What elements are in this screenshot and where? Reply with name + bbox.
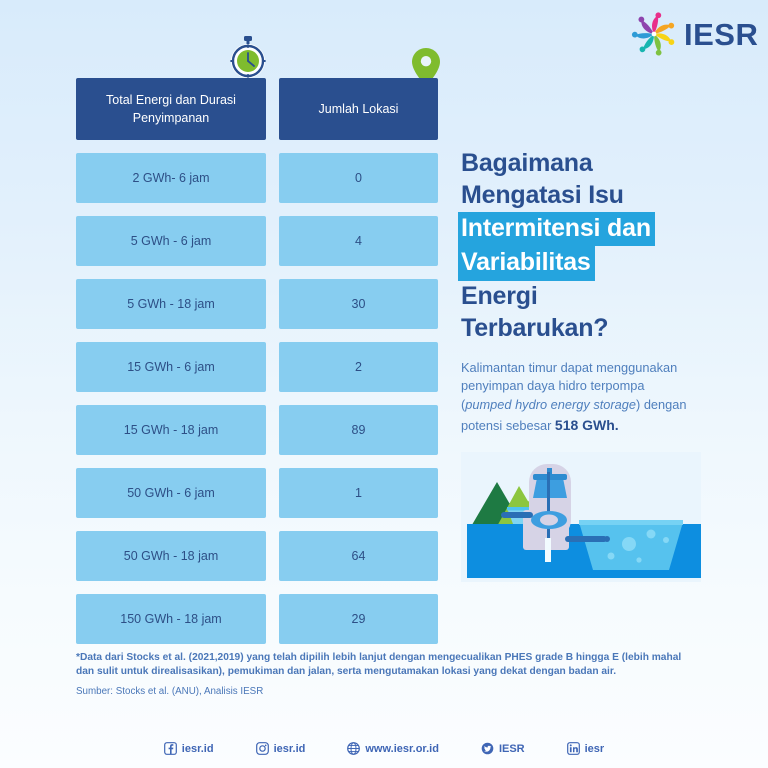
footer-label-facebook: iesr.id [182,743,214,755]
title-line: Energi [461,281,693,313]
cell-location-count: 1 [279,468,438,518]
cell-energy-duration: 15 GWh - 6 jam [76,342,266,392]
cell-energy-duration: 150 GWh - 18 jam [76,594,266,644]
footer-item-twitter[interactable]: IESR [481,742,525,755]
cell-location-count: 2 [279,342,438,392]
body-paragraph: Kalimantan timur dapat menggunakan penyi… [461,359,693,437]
cell-energy-duration: 5 GWh - 18 jam [76,279,266,329]
pumped-hydro-illustration [461,452,701,582]
potential-value: 518 GWh. [555,417,619,433]
cell-location-count: 29 [279,594,438,644]
column-header-location-count: Jumlah Lokasi [279,78,438,140]
footnote-methodology: *Data dari Stocks et al. (2021,2019) yan… [76,651,701,680]
page-title: Bagaimana Mengatasi Isu Intermitensi dan… [461,148,693,345]
globe-icon [347,742,360,755]
title-line: Bagaimana [461,148,693,180]
iesr-logo: IESR [630,8,762,60]
footnote-block: *Data dari Stocks et al. (2021,2019) yan… [76,651,701,697]
cell-location-count: 30 [279,279,438,329]
table-row: 2 GWh- 6 jam 0 [76,153,438,203]
table-row: 150 GWh - 18 jam 29 [76,594,438,644]
table-row: 50 GWh - 18 jam 64 [76,531,438,581]
footer-label-instagram: iesr.id [274,743,306,755]
cell-location-count: 0 [279,153,438,203]
body-text-italic: pumped hydro energy storage [465,397,636,412]
infographic-canvas: IESR Total Energi dan Durasi Penyimpanan… [0,0,768,768]
phes-data-table: Total Energi dan Durasi Penyimpanan Juml… [76,78,438,657]
title-line: Mengatasi Isu [461,180,693,212]
cell-energy-duration: 5 GWh - 6 jam [76,216,266,266]
twitter-icon [481,742,494,755]
pinwheel-logo-icon [630,10,678,58]
table-row: 5 GWh - 6 jam 4 [76,216,438,266]
footer-label-linkedin: iesr [585,743,605,755]
linkedin-icon [567,742,580,755]
footer-item-website[interactable]: www.iesr.or.id [347,742,439,755]
cell-energy-duration: 2 GWh- 6 jam [76,153,266,203]
column-header-energy-duration: Total Energi dan Durasi Penyimpanan [76,78,266,140]
table-row: 5 GWh - 18 jam 30 [76,279,438,329]
logo-wordmark: IESR [684,19,758,50]
footer-item-linkedin[interactable]: iesr [567,742,605,755]
instagram-icon [256,742,269,755]
footer-label-website: www.iesr.or.id [365,743,439,755]
footer-item-facebook[interactable]: iesr.id [164,742,214,755]
table-row: 50 GWh - 6 jam 1 [76,468,438,518]
cell-energy-duration: 50 GWh - 18 jam [76,531,266,581]
title-line: Terbarukan? [461,313,693,345]
cell-location-count: 89 [279,405,438,455]
footer-label-twitter: IESR [499,743,525,755]
footnote-source: Sumber: Stocks et al. (ANU), Analisis IE… [76,686,701,697]
cell-location-count: 4 [279,216,438,266]
cell-energy-duration: 15 GWh - 18 jam [76,405,266,455]
table-header-row: Total Energi dan Durasi Penyimpanan Juml… [76,78,438,140]
table-row: 15 GWh - 6 jam 2 [76,342,438,392]
stopwatch-icon [228,36,268,80]
title-line-highlighted: Variabilitas [461,246,693,281]
footer-item-instagram[interactable]: iesr.id [256,742,306,755]
cell-energy-duration: 50 GWh - 6 jam [76,468,266,518]
social-footer: iesr.id iesr.id [0,742,768,755]
title-line-highlighted: Intermitensi dan [461,212,693,247]
table-row: 15 GWh - 18 jam 89 [76,405,438,455]
cell-location-count: 64 [279,531,438,581]
facebook-icon [164,742,177,755]
right-content-panel: Bagaimana Mengatasi Isu Intermitensi dan… [461,148,693,436]
